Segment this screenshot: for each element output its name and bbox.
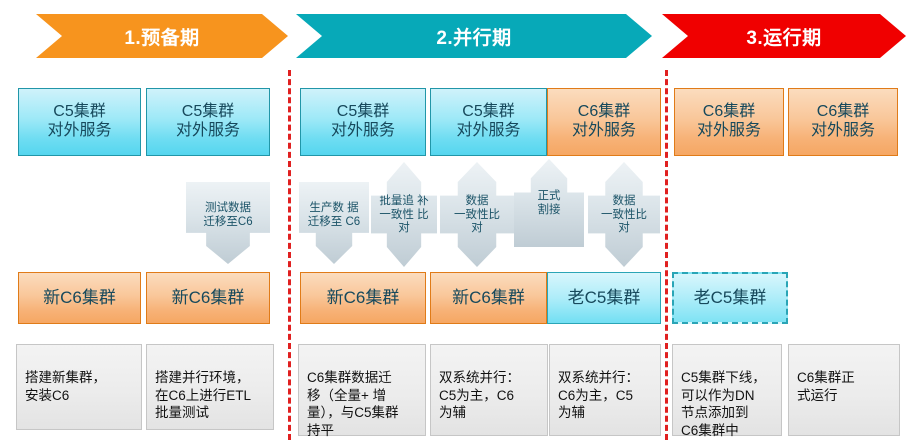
arrow-prod-data-migration: 生产数 据 迁移至 C6 <box>299 182 369 264</box>
phase-banner-3: 3.运行期 <box>662 14 906 58</box>
top-box-7-line2: 对外服务 <box>811 122 875 141</box>
phase-divider-1 <box>288 70 291 440</box>
note-7-text: C6集群正 式运行 <box>797 370 855 403</box>
phase-banner-1: 1.预备期 <box>36 14 288 58</box>
top-box-5-line2: 对外服务 <box>572 122 636 141</box>
note-box-3: C6集群数据迁 移（全量+ 增 量），与C5集群 持平 <box>298 344 426 436</box>
phase-banner-2-label: 2.并行期 <box>436 23 511 50</box>
note-1-text: 搭建新集群， 安装C6 <box>25 370 106 403</box>
bottom-box-new-c6-1: 新C6集群 <box>18 272 141 324</box>
phase-banner-3-label: 3.运行期 <box>746 23 821 50</box>
arrow-test-data-migration: 测试数据 迁移至C6 <box>186 182 270 264</box>
arrow-batch-consistency-check: 批量追 补 一致性 比对 <box>371 162 437 267</box>
bottom-box-3-label: 新C6集群 <box>327 288 400 308</box>
top-box-c6-service-6: C6集群 对外服务 <box>674 88 784 156</box>
arrow-5-text: 正式 割接 <box>517 188 581 218</box>
top-box-3-line1: C5集群 <box>337 103 389 122</box>
note-box-2: 搭建并行环境， 在C6上进行ETL 批量测试 <box>146 344 274 430</box>
bottom-box-new-c6-2: 新C6集群 <box>146 272 270 324</box>
top-box-c5-service-4: C5集群 对外服务 <box>430 88 547 156</box>
arrow-data-consistency-check-1: 数据 一致性比 对 <box>440 162 514 267</box>
top-box-7-line1: C6集群 <box>817 103 869 122</box>
bottom-box-5-label: 老C5集群 <box>568 288 641 308</box>
bottom-box-4-label: 新C6集群 <box>452 288 525 308</box>
top-box-c6-service-7: C6集群 对外服务 <box>788 88 898 156</box>
phase-banner-2: 2.并行期 <box>296 14 652 58</box>
note-4-text: 双系统并行： C5为主，C6 为辅 <box>439 370 520 421</box>
top-box-c6-service-5: C6集群 对外服务 <box>547 88 661 156</box>
top-box-c5-service-2: C5集群 对外服务 <box>146 88 270 156</box>
top-box-c5-service-3: C5集群 对外服务 <box>300 88 426 156</box>
top-box-c5-service-1: C5集群 对外服务 <box>18 88 141 156</box>
top-box-6-line1: C6集群 <box>703 103 755 122</box>
top-box-1-line2: 对外服务 <box>47 122 111 141</box>
bottom-box-old-c5-5: 老C5集群 <box>547 272 661 324</box>
note-6-text: C5集群下线， 可以作为DN 节点添加到 C6集群中 <box>681 370 766 438</box>
top-box-2-line2: 对外服务 <box>176 122 240 141</box>
note-box-6: C5集群下线， 可以作为DN 节点添加到 C6集群中 <box>672 344 782 436</box>
bottom-box-new-c6-3: 新C6集群 <box>300 272 426 324</box>
note-box-1: 搭建新集群， 安装C6 <box>16 344 142 430</box>
diagram-canvas: 1.预备期 2.并行期 3.运行期 C5集群 对外服务 C5集群 对外服务 C5… <box>0 0 918 443</box>
note-box-4: 双系统并行： C5为主，C6 为辅 <box>430 344 548 436</box>
arrow-formal-cutover: 正式 割接 <box>514 159 584 247</box>
top-box-4-line1: C5集群 <box>462 103 514 122</box>
note-5-text: 双系统并行： C6为主，C5 为辅 <box>558 370 639 421</box>
phase-banner-1-label: 1.预备期 <box>124 23 199 50</box>
bottom-box-1-label: 新C6集群 <box>43 288 116 308</box>
arrow-1-text: 测试数据 迁移至C6 <box>189 202 267 244</box>
bottom-box-2-label: 新C6集群 <box>172 288 245 308</box>
top-box-5-line1: C6集群 <box>578 103 630 122</box>
arrow-data-consistency-check-2: 数据 一致性比 对 <box>588 162 660 267</box>
top-box-3-line2: 对外服务 <box>331 122 395 141</box>
top-box-1-line1: C5集群 <box>53 103 105 122</box>
arrow-2-text: 生产数 据 迁移至 C6 <box>302 202 366 244</box>
note-box-7: C6集群正 式运行 <box>788 344 900 436</box>
bottom-box-new-c6-4: 新C6集群 <box>430 272 547 324</box>
note-3-text: C6集群数据迁 移（全量+ 增 量），与C5集群 持平 <box>307 370 399 438</box>
top-box-6-line2: 对外服务 <box>697 122 761 141</box>
bottom-box-6-label: 老C5集群 <box>694 288 767 308</box>
bottom-box-old-c5-6: 老C5集群 <box>672 272 788 324</box>
top-box-2-line1: C5集群 <box>182 103 234 122</box>
arrow-4-text: 数据 一致性比 对 <box>443 193 511 236</box>
note-2-text: 搭建并行环境， 在C6上进行ETL 批量测试 <box>155 370 251 421</box>
arrow-6-text: 数据 一致性比 对 <box>591 193 657 236</box>
phase-divider-2 <box>665 70 668 440</box>
top-box-4-line2: 对外服务 <box>456 122 520 141</box>
arrow-3-text: 批量追 补 一致性 比对 <box>374 193 434 236</box>
note-box-5: 双系统并行： C6为主，C5 为辅 <box>549 344 661 436</box>
